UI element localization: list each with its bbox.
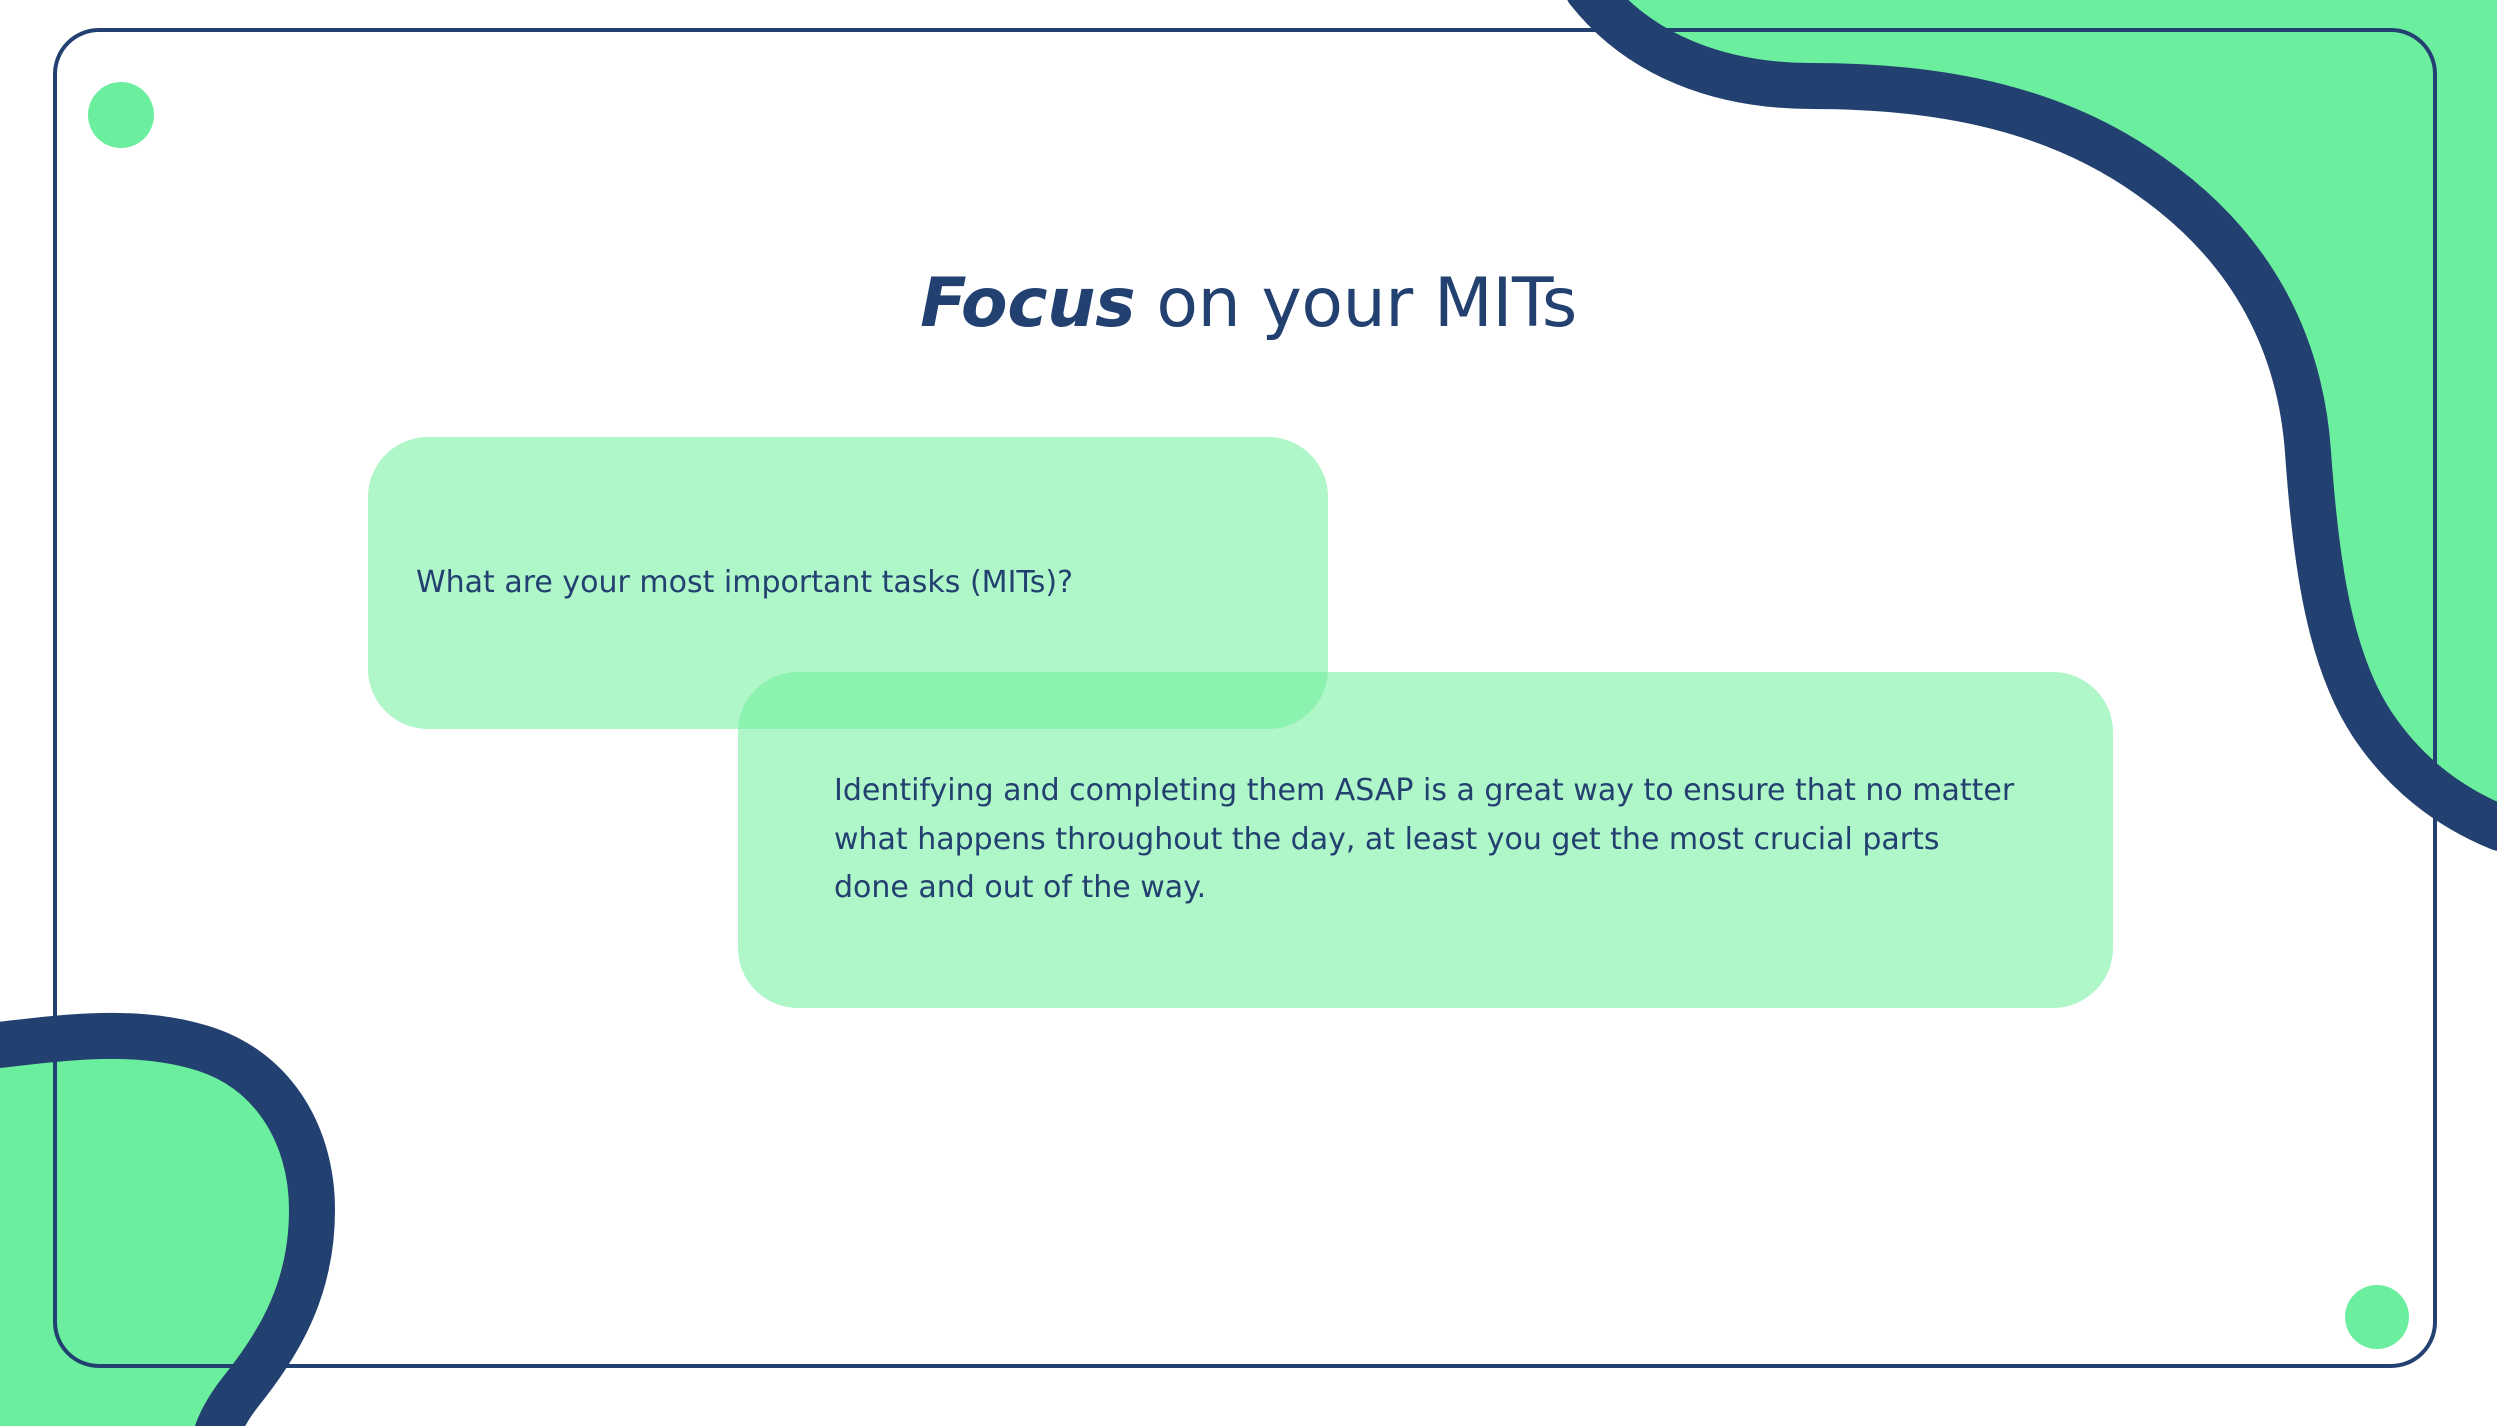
slide-title: Focus on your MITs bbox=[0, 264, 2497, 344]
question-card-text: What are your most important tasks (MITs… bbox=[416, 562, 1073, 605]
slide-canvas: Focus on your MITs What are your most im… bbox=[0, 0, 2497, 1426]
top-left-green-circle-icon bbox=[88, 82, 154, 148]
slide-title-rest: on your MITs bbox=[1135, 264, 1577, 343]
bottom-left-navy-stroke-icon bbox=[0, 1036, 722, 1426]
answer-card: Identifying and completing them ASAP is … bbox=[738, 672, 2113, 1008]
bottom-left-green-blob-icon bbox=[0, 1037, 716, 1426]
slide-title-accent: Focus bbox=[920, 264, 1135, 343]
bottom-right-green-circle-icon bbox=[2345, 1285, 2409, 1349]
answer-card-text: Identifying and completing them ASAP is … bbox=[834, 767, 2017, 913]
